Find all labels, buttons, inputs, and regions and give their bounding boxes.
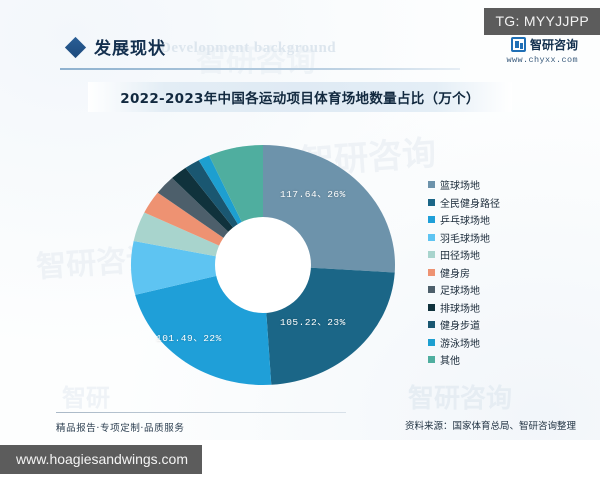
brand-name: 智研咨询 (530, 36, 578, 53)
data-label: 105.22、23% (280, 314, 346, 328)
legend-item[interactable]: 田径场地 (428, 246, 500, 264)
legend-label: 健身步道 (440, 317, 480, 332)
data-label: 117.64、26% (280, 186, 346, 200)
donut-hole (215, 217, 311, 313)
legend-label: 篮球场地 (440, 177, 480, 192)
watermark: 智研 (62, 378, 110, 413)
legend-swatch-icon (428, 286, 435, 293)
legend-label: 足球场地 (440, 282, 480, 297)
tg-badge: TG: MYYJJPP (484, 8, 600, 35)
footer-tagline: 精品报告·专项定制·品质服务 (56, 420, 184, 434)
data-label: 101.49、22% (156, 330, 222, 344)
diamond-bullet-icon (65, 37, 86, 58)
legend-swatch-icon (428, 181, 435, 188)
legend-item[interactable]: 游泳场地 (428, 334, 500, 352)
donut-chart: 117.64、26% 105.22、23% 101.49、22% (128, 142, 398, 388)
legend-swatch-icon (428, 321, 435, 328)
watermark: 智研咨询 (408, 378, 512, 415)
page-title: 发展现状 (94, 34, 166, 59)
legend-label: 羽毛球场地 (440, 230, 490, 245)
legend-label: 游泳场地 (440, 335, 480, 350)
legend-label: 全民健身路径 (440, 195, 500, 210)
legend-item[interactable]: 篮球场地 (428, 176, 500, 194)
legend-item[interactable]: 足球场地 (428, 281, 500, 299)
legend-item[interactable]: 全民健身路径 (428, 194, 500, 212)
slide-canvas: 智研咨询 智研咨询 智研咨询 智研 智研咨询 Development backg… (0, 0, 600, 440)
legend-item[interactable]: 排球场地 (428, 299, 500, 317)
chyxx-logo-icon (511, 37, 526, 52)
brand-url: www.chyxx.com (506, 55, 578, 65)
brand-block: 智研咨询 www.chyxx.com (506, 36, 578, 65)
url-bar: www.hoagiesandwings.com (0, 445, 202, 474)
chart-source: 资料来源：国家体育总局、智研咨询整理 (405, 418, 576, 432)
legend-item[interactable]: 健身步道 (428, 316, 500, 334)
footer-divider (56, 412, 346, 413)
header-subtitle-faded: Development background (160, 40, 336, 57)
legend-label: 排球场地 (440, 300, 480, 315)
legend-label: 其他 (440, 352, 460, 367)
slide-root: 智研咨询 智研咨询 智研咨询 智研 智研咨询 Development backg… (0, 0, 600, 480)
legend-swatch-icon (428, 269, 435, 276)
legend-item[interactable]: 其他 (428, 351, 500, 369)
chart-title: 2022-2023年中国各运动项目体育场地数量占比（万个） (120, 87, 479, 107)
chart-title-banner: 2022-2023年中国各运动项目体育场地数量占比（万个） (88, 82, 512, 112)
legend-item[interactable]: 健身房 (428, 264, 500, 282)
legend-swatch-icon (428, 251, 435, 258)
legend-swatch-icon (428, 304, 435, 311)
header-divider (60, 68, 460, 70)
legend-label: 田径场地 (440, 247, 480, 262)
legend-swatch-icon (428, 216, 435, 223)
legend-swatch-icon (428, 234, 435, 241)
legend-item[interactable]: 乒乓球场地 (428, 211, 500, 229)
chart-legend: 篮球场地全民健身路径乒乓球场地羽毛球场地田径场地健身房足球场地排球场地健身步道游… (428, 176, 500, 369)
legend-label: 乒乓球场地 (440, 212, 490, 227)
legend-item[interactable]: 羽毛球场地 (428, 229, 500, 247)
legend-swatch-icon (428, 356, 435, 363)
legend-label: 健身房 (440, 265, 470, 280)
legend-swatch-icon (428, 199, 435, 206)
legend-swatch-icon (428, 339, 435, 346)
